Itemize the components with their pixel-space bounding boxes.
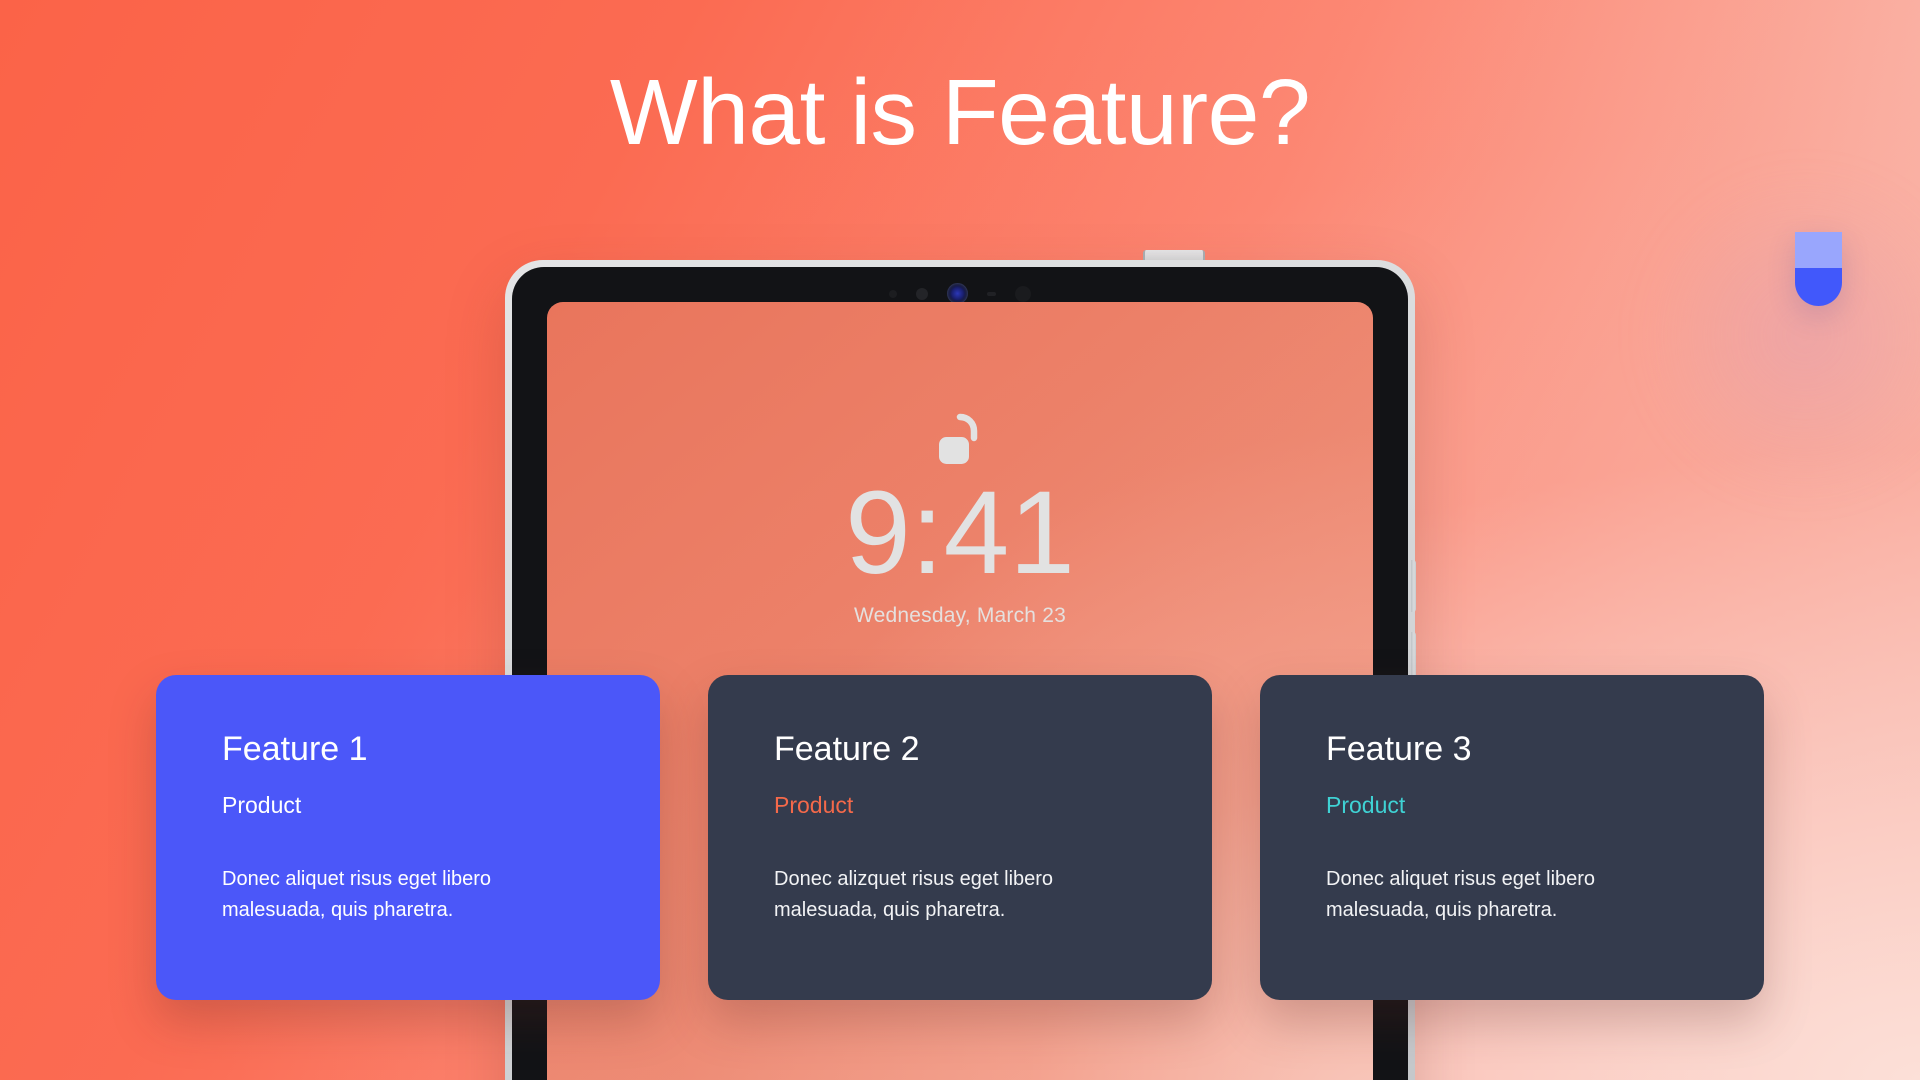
feature-card[interactable]: Feature 1 Product Donec aliquet risus eg… [156, 675, 660, 1000]
feature-cards-row: Feature 1 Product Donec aliquet risus eg… [0, 675, 1920, 1000]
feature-card-label: Product [1326, 793, 1698, 818]
feature-card-title: Feature 3 [1326, 731, 1698, 768]
feature-card-body: Donec aliquet risus eget libero malesuad… [1326, 864, 1656, 926]
feature-card[interactable]: Feature 2 Product Donec alizquet risus e… [708, 675, 1212, 1000]
volume-up-button[interactable] [1411, 560, 1416, 612]
camera-lens-icon [947, 283, 968, 304]
feature-card-label: Product [774, 793, 1146, 818]
feature-card-title: Feature 2 [774, 731, 1146, 768]
unlocked-padlock-icon [934, 412, 986, 468]
feature-card-body: Donec alizquet risus eget libero malesua… [774, 864, 1104, 926]
feature-card-label: Product [222, 793, 594, 818]
pill-top-half [1795, 232, 1842, 268]
decorative-pill-shape [1795, 232, 1842, 306]
sensor-dot-large-icon [1015, 286, 1031, 302]
lock-screen-date: Wednesday, March 23 [854, 604, 1066, 628]
feature-card-body: Donec aliquet risus eget libero malesuad… [222, 864, 552, 926]
sensor-slit-icon [987, 292, 996, 296]
feature-card[interactable]: Feature 3 Product Donec aliquet risus eg… [1260, 675, 1764, 1000]
feature-card-title: Feature 1 [222, 731, 594, 768]
lock-screen: 9:41 Wednesday, March 23 [547, 412, 1373, 628]
sensor-dot-medium-icon [916, 288, 928, 300]
sensor-dot-small-icon [889, 290, 897, 298]
page-title: What is Feature? [0, 62, 1920, 162]
lock-screen-time: 9:41 [845, 474, 1075, 592]
camera-cluster [889, 283, 1031, 304]
